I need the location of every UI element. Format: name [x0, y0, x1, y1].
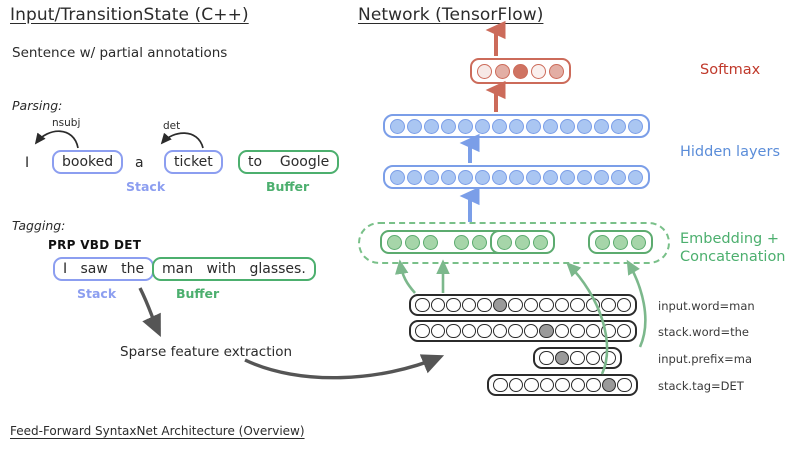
hidden-unit [458, 170, 473, 185]
hidden-unit [560, 119, 575, 134]
tagging-stack-box[interactable]: I saw the [53, 257, 154, 281]
parsing-token-a: a [135, 155, 144, 171]
arc-label-det: det [163, 120, 180, 132]
feature-unit [446, 298, 461, 313]
feature-unit [524, 298, 539, 313]
softmax-unit [495, 64, 510, 79]
feature-unit [462, 298, 477, 313]
hidden-unit [611, 170, 626, 185]
embedding-unit [387, 235, 402, 250]
feature-unit [601, 324, 616, 339]
feature-unit [508, 324, 523, 339]
feature-unit [570, 298, 585, 313]
feature-unit [586, 324, 601, 339]
hidden-unit [594, 170, 609, 185]
embedding-unit [423, 235, 438, 250]
feature-label-input-prefix: input.prefix=ma [658, 352, 752, 366]
feature-unit [446, 324, 461, 339]
arrow-to-sparse-extraction [140, 288, 159, 333]
feature-row-stack-tag[interactable] [487, 374, 638, 396]
softmax-unit [531, 64, 546, 79]
left-panel-subtitle: Sentence w/ partial annotations [12, 45, 227, 61]
parsing-buffer-box[interactable]: to Google [238, 150, 339, 174]
hidden-unit [441, 119, 456, 134]
hidden-layers-label: Hidden layers [680, 144, 780, 160]
feature-unit [571, 378, 586, 393]
dependency-arc-det [162, 133, 203, 148]
feature-unit [617, 378, 632, 393]
softmax-label: Softmax [700, 62, 760, 78]
hidden-unit [475, 119, 490, 134]
feature-row-input-word[interactable] [409, 294, 637, 316]
hidden-unit [526, 170, 541, 185]
feature-unit [601, 351, 616, 366]
hidden-unit [475, 170, 490, 185]
embedding-group-3[interactable] [588, 230, 653, 254]
parsing-stack-label: Stack [126, 179, 165, 194]
tagging-tags: PRP VBD DET [48, 238, 141, 252]
hidden-unit [543, 119, 558, 134]
hidden-unit [492, 119, 507, 134]
feature-unit [555, 324, 570, 339]
feature-unit [524, 324, 539, 339]
hidden-unit [407, 119, 422, 134]
embedding-group-2[interactable] [490, 230, 555, 254]
hidden-unit [424, 170, 439, 185]
feature-row-stack-word[interactable] [409, 320, 637, 342]
parsing-stack-box-ticket-text: ticket [174, 154, 213, 170]
hidden-unit [543, 170, 558, 185]
feature-unit [617, 324, 632, 339]
feature-unit [540, 378, 555, 393]
hidden-unit [458, 119, 473, 134]
dependency-arc-nsubj [36, 131, 78, 148]
feature-unit [555, 378, 570, 393]
feature-unit [493, 378, 508, 393]
tagging-stack-box-text: I saw the [63, 261, 144, 277]
feature-unit [524, 378, 539, 393]
hidden-unit [526, 119, 541, 134]
hidden-unit [611, 119, 626, 134]
feature-label-stack-word: stack.word=the [658, 325, 749, 339]
hidden-unit [424, 119, 439, 134]
softmax-layer[interactable] [470, 58, 571, 84]
hidden-unit [577, 119, 592, 134]
hidden-unit [628, 119, 643, 134]
feature-unit [509, 378, 524, 393]
feature-unit-active [602, 378, 617, 393]
arrow-sparse-to-features [245, 357, 440, 378]
hidden-unit [407, 170, 422, 185]
hidden-unit [594, 119, 609, 134]
embedding-unit [595, 235, 610, 250]
feature-unit [539, 351, 554, 366]
hidden-unit [390, 170, 405, 185]
embedding-concat-label: Embedding + Concatenation [680, 230, 800, 266]
feature-unit [586, 351, 601, 366]
embedding-unit [533, 235, 548, 250]
parsing-stack-box-booked[interactable]: booked [52, 150, 123, 174]
feature-unit [555, 298, 570, 313]
hidden-layer-top[interactable] [383, 114, 650, 138]
parsing-stack-box-booked-text: booked [62, 154, 113, 170]
left-panel-title: Input/TransitionState (C++) [10, 5, 249, 25]
feature-unit-active [555, 351, 570, 366]
feature-unit [570, 351, 585, 366]
parsing-stack-box-ticket[interactable]: ticket [164, 150, 223, 174]
tagging-stack-label: Stack [77, 286, 116, 301]
feature-unit [477, 298, 492, 313]
feature-unit [601, 298, 616, 313]
parsing-buffer-box-text: to Google [248, 154, 329, 170]
tagging-buffer-box[interactable]: man with glasses. [152, 257, 316, 281]
hidden-unit [577, 170, 592, 185]
feature-unit [570, 324, 585, 339]
feature-unit [617, 298, 632, 313]
embedding-unit [631, 235, 646, 250]
embedding-unit [497, 235, 512, 250]
hidden-unit [560, 170, 575, 185]
softmax-unit [513, 64, 528, 79]
hidden-layer-bottom[interactable] [383, 165, 650, 189]
feature-unit [508, 298, 523, 313]
feature-unit-active [539, 324, 554, 339]
feature-row-input-prefix[interactable] [533, 347, 622, 369]
feature-unit [539, 298, 554, 313]
feature-unit [586, 298, 601, 313]
tagging-buffer-box-text: man with glasses. [162, 261, 306, 277]
feature-unit [462, 324, 477, 339]
feature-unit [493, 324, 508, 339]
embedding-unit [472, 235, 487, 250]
sparse-feature-extraction-label: Sparse feature extraction [120, 344, 292, 360]
hidden-unit [441, 170, 456, 185]
hidden-unit [509, 170, 524, 185]
figure-caption: Feed-Forward SyntaxNet Architecture (Ove… [10, 424, 305, 438]
hidden-unit [390, 119, 405, 134]
embedding-unit [454, 235, 469, 250]
feature-unit [415, 324, 430, 339]
feature-label-input-word: input.word=man [658, 299, 755, 313]
embedding-unit [613, 235, 628, 250]
embedding-unit [405, 235, 420, 250]
feature-unit [477, 324, 492, 339]
softmax-unit [477, 64, 492, 79]
feature-label-stack-tag: stack.tag=DET [658, 379, 744, 393]
embedding-unit [515, 235, 530, 250]
right-panel-title: Network (TensorFlow) [358, 5, 543, 25]
feature-unit [431, 298, 446, 313]
softmax-unit [549, 64, 564, 79]
feature-unit [431, 324, 446, 339]
hidden-unit [492, 170, 507, 185]
tagging-buffer-label: Buffer [176, 286, 219, 301]
embedding-gap [441, 237, 451, 247]
feature-unit-active [493, 298, 508, 313]
feature-unit [415, 298, 430, 313]
arrow-feature-to-embedding-1 [400, 262, 415, 293]
tagging-label: Tagging: [12, 218, 65, 233]
parsing-label: Parsing: [12, 98, 62, 113]
hidden-unit [628, 170, 643, 185]
parsing-buffer-label: Buffer [266, 179, 309, 194]
feature-unit [586, 378, 601, 393]
arc-label-nsubj: nsubj [52, 117, 80, 129]
parsing-token-i: I [25, 155, 29, 171]
hidden-unit [509, 119, 524, 134]
